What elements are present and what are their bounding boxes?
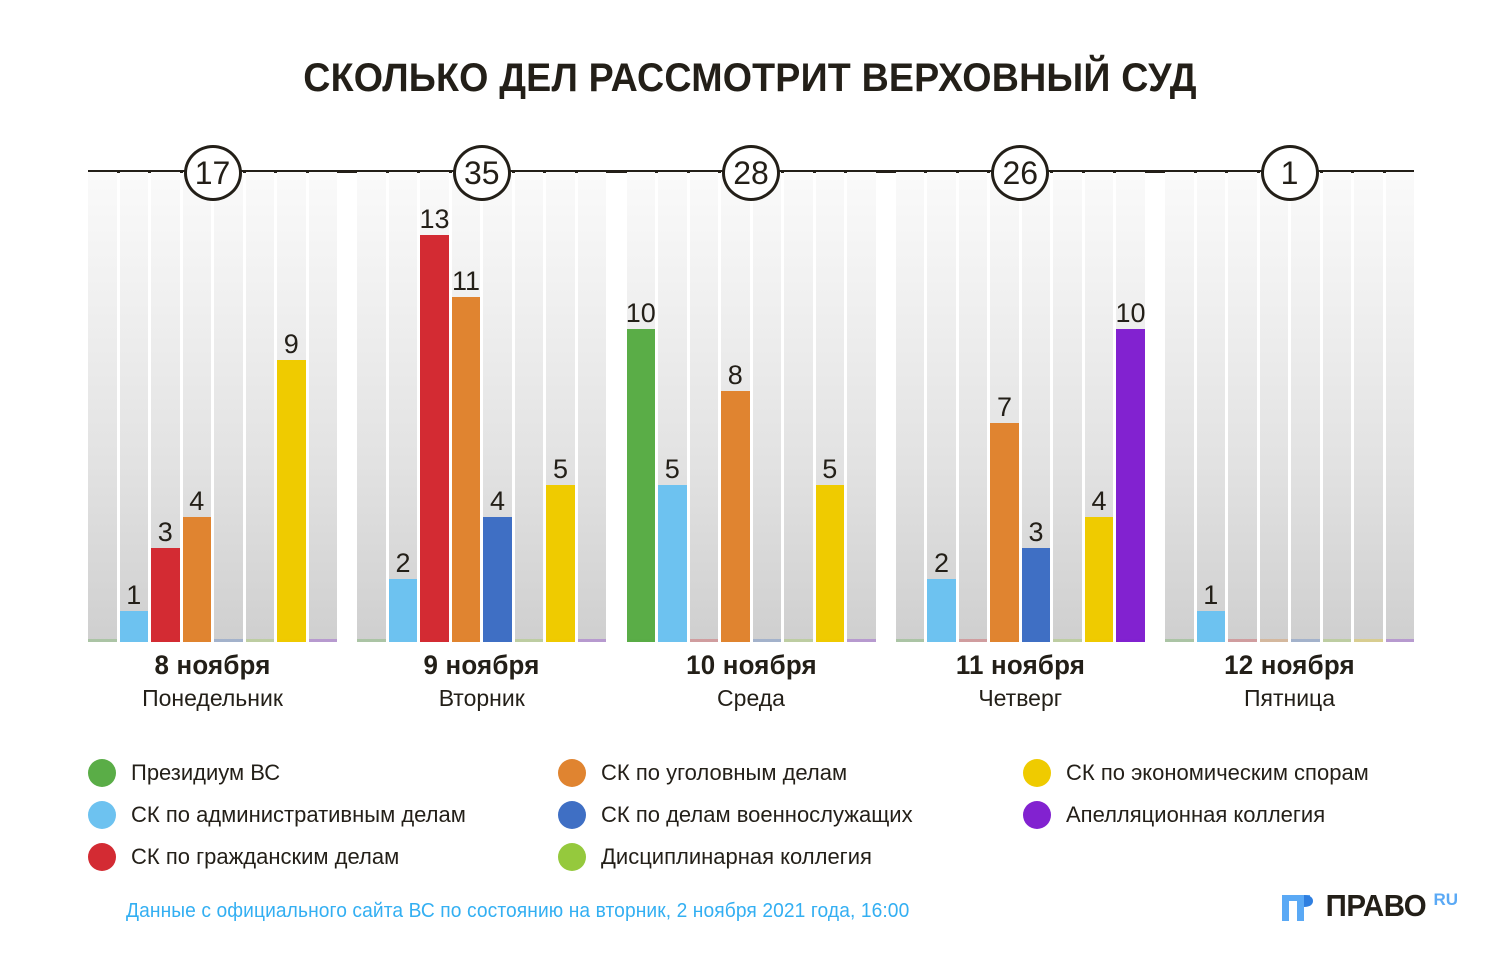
bar-value-label: 7 bbox=[997, 394, 1012, 421]
page-title: СКОЛЬКО ДЕЛ РАССМОТРИТ ВЕРХОВНЫЙ СУД bbox=[45, 56, 1455, 101]
bar-value-label: 5 bbox=[553, 456, 568, 483]
legend-label: Апелляционная коллегия bbox=[1066, 802, 1325, 828]
bar-value-label: 5 bbox=[822, 456, 837, 483]
bar[interactable]: 10 bbox=[627, 329, 656, 642]
date-label-main: 12 ноября bbox=[1170, 650, 1409, 681]
date-label-main: 8 ноября bbox=[93, 650, 332, 681]
date-label-cell: 9 ноябряВторник bbox=[357, 650, 606, 712]
bar-value-label: 4 bbox=[1091, 488, 1106, 515]
category-slot: 7 bbox=[990, 172, 1019, 642]
bar-value-label: 2 bbox=[395, 550, 410, 577]
bar[interactable]: 3 bbox=[1022, 548, 1051, 642]
bar-value-label: 3 bbox=[1028, 519, 1043, 546]
category-slot bbox=[784, 172, 813, 642]
day-group: 1058528 bbox=[627, 172, 876, 642]
category-slot: 4 bbox=[183, 172, 212, 642]
category-slot: 10 bbox=[627, 172, 656, 642]
legend-color-swatch bbox=[558, 801, 586, 829]
legend-item[interactable]: Апелляционная коллегия bbox=[1023, 801, 1458, 829]
legend-color-swatch bbox=[1023, 801, 1051, 829]
bar[interactable]: 13 bbox=[420, 235, 449, 642]
legend-label: СК по делам военнослужащих bbox=[601, 802, 913, 828]
legend-color-swatch bbox=[558, 843, 586, 871]
category-slot bbox=[309, 172, 338, 642]
chart-legend: Президиум ВССК по уголовным деламСК по э… bbox=[88, 752, 1458, 878]
legend-item[interactable]: Президиум ВС bbox=[88, 759, 558, 787]
bar[interactable]: 11 bbox=[452, 297, 481, 642]
category-slot bbox=[578, 172, 607, 642]
legend-color-swatch bbox=[88, 801, 116, 829]
date-label-weekday: Пятница bbox=[1165, 685, 1414, 712]
slot-track: 10585 bbox=[627, 172, 876, 642]
bar-value-label: 4 bbox=[189, 488, 204, 515]
bar-value-label: 10 bbox=[1115, 300, 1145, 327]
category-slot bbox=[1386, 172, 1415, 642]
bar[interactable]: 10 bbox=[1116, 329, 1145, 642]
date-label-weekday: Вторник bbox=[357, 685, 606, 712]
category-slot: 3 bbox=[1022, 172, 1051, 642]
category-slot bbox=[1323, 172, 1352, 642]
legend-color-swatch bbox=[88, 843, 116, 871]
category-slot bbox=[753, 172, 782, 642]
legend-item[interactable]: СК по гражданским делам bbox=[88, 843, 558, 871]
legend-label: Дисциплинарная коллегия bbox=[601, 844, 872, 870]
bar[interactable]: 4 bbox=[483, 517, 512, 642]
category-slot: 2 bbox=[389, 172, 418, 642]
logo-wordmark: ПРАВО bbox=[1325, 888, 1426, 924]
date-label-main: 10 ноября bbox=[631, 650, 870, 681]
date-label-weekday: Четверг bbox=[896, 685, 1145, 712]
slot-track: 1349 bbox=[88, 172, 337, 642]
category-slot bbox=[1260, 172, 1289, 642]
legend-color-swatch bbox=[88, 759, 116, 787]
category-slot: 1 bbox=[1197, 172, 1226, 642]
date-label-cell: 8 ноябряПонедельник bbox=[88, 650, 337, 712]
day-group: 11 bbox=[1165, 172, 1414, 642]
bar-value-label: 11 bbox=[452, 268, 480, 295]
slot-track: 2131145 bbox=[357, 172, 606, 642]
category-slot bbox=[214, 172, 243, 642]
source-note: Данные с официального сайта ВС по состоя… bbox=[126, 900, 909, 923]
category-slot bbox=[357, 172, 386, 642]
legend-color-swatch bbox=[1023, 759, 1051, 787]
category-slot: 2 bbox=[927, 172, 956, 642]
bar-value-label: 3 bbox=[158, 519, 173, 546]
category-slot bbox=[1354, 172, 1383, 642]
legend-color-swatch bbox=[558, 759, 586, 787]
legend-label: СК по административным делам bbox=[131, 802, 466, 828]
category-slot: 5 bbox=[816, 172, 845, 642]
bar-value-label: 2 bbox=[934, 550, 949, 577]
date-axis-labels: 8 ноябряПонедельник9 ноябряВторник10 ноя… bbox=[88, 650, 1414, 712]
bar[interactable]: 5 bbox=[816, 485, 845, 642]
bar[interactable]: 9 bbox=[277, 360, 306, 642]
bar-value-label: 8 bbox=[728, 362, 743, 389]
category-slot: 8 bbox=[721, 172, 750, 642]
legend-label: СК по гражданским делам bbox=[131, 844, 399, 870]
legend-item[interactable]: СК по уголовным делам bbox=[558, 759, 1023, 787]
bar[interactable]: 5 bbox=[658, 485, 687, 642]
date-label-cell: 10 ноябряСреда bbox=[627, 650, 876, 712]
bar-value-label: 1 bbox=[126, 582, 141, 609]
bar[interactable]: 8 bbox=[721, 391, 750, 642]
bar-value-label: 13 bbox=[419, 206, 449, 233]
bar[interactable]: 2 bbox=[389, 579, 418, 642]
date-label-main: 11 ноября bbox=[901, 650, 1140, 681]
category-slot bbox=[1165, 172, 1194, 642]
category-slot: 3 bbox=[151, 172, 180, 642]
category-slot bbox=[1228, 172, 1257, 642]
group-total-badge: 35 bbox=[453, 145, 511, 201]
legend-item[interactable]: СК по экономическим спорам bbox=[1023, 759, 1458, 787]
category-slot: 4 bbox=[483, 172, 512, 642]
pravo-logo-mark-icon bbox=[1280, 889, 1314, 923]
legend-item[interactable]: Дисциплинарная коллегия bbox=[558, 843, 1023, 871]
bar[interactable]: 1 bbox=[1197, 611, 1226, 642]
chart-groups: 13491721311453510585282734102611 bbox=[88, 172, 1414, 642]
group-total-badge: 1 bbox=[1261, 145, 1319, 201]
group-total-badge: 28 bbox=[722, 145, 780, 201]
day-group: 134917 bbox=[88, 172, 337, 642]
category-slot bbox=[847, 172, 876, 642]
bar[interactable]: 2 bbox=[927, 579, 956, 642]
bar[interactable]: 7 bbox=[990, 423, 1019, 642]
date-label-weekday: Среда bbox=[627, 685, 876, 712]
category-slot bbox=[246, 172, 275, 642]
category-slot: 9 bbox=[277, 172, 306, 642]
bar-value-label: 5 bbox=[665, 456, 680, 483]
legend-item[interactable]: СК по административным делам bbox=[88, 801, 558, 829]
legend-label: Президиум ВС bbox=[131, 760, 280, 786]
date-label-main: 9 ноября bbox=[362, 650, 601, 681]
date-label-cell: 12 ноябряПятница bbox=[1165, 650, 1414, 712]
slot-track: 273410 bbox=[896, 172, 1145, 642]
category-slot bbox=[690, 172, 719, 642]
date-label-cell: 11 ноябряЧетверг bbox=[896, 650, 1145, 712]
bar[interactable]: 5 bbox=[546, 485, 575, 642]
category-slot bbox=[515, 172, 544, 642]
bar[interactable]: 3 bbox=[151, 548, 180, 642]
category-slot bbox=[959, 172, 988, 642]
legend-label: СК по уголовным делам bbox=[601, 760, 847, 786]
category-slot: 11 bbox=[452, 172, 481, 642]
bar[interactable]: 1 bbox=[120, 611, 149, 642]
day-group: 213114535 bbox=[357, 172, 606, 642]
category-slot bbox=[896, 172, 925, 642]
bar-value-label: 1 bbox=[1203, 582, 1218, 609]
legend-item[interactable]: СК по делам военнослужащих bbox=[558, 801, 1023, 829]
bar-value-label: 4 bbox=[490, 488, 505, 515]
legend-label: СК по экономическим спорам bbox=[1066, 760, 1369, 786]
bar-value-label: 10 bbox=[626, 300, 656, 327]
pravo-ru-logo[interactable]: ПРАВО RU bbox=[1280, 888, 1458, 924]
category-slot: 10 bbox=[1116, 172, 1145, 642]
day-group: 27341026 bbox=[896, 172, 1145, 642]
category-slot: 1 bbox=[120, 172, 149, 642]
logo-suffix: RU bbox=[1433, 890, 1458, 910]
category-slot bbox=[1291, 172, 1320, 642]
group-total-badge: 17 bbox=[184, 145, 242, 201]
category-slot bbox=[88, 172, 117, 642]
category-slot: 4 bbox=[1085, 172, 1114, 642]
category-slot bbox=[1053, 172, 1082, 642]
category-slot: 5 bbox=[658, 172, 687, 642]
date-label-weekday: Понедельник bbox=[88, 685, 337, 712]
bar-value-label: 9 bbox=[284, 331, 299, 358]
category-slot: 5 bbox=[546, 172, 575, 642]
bar[interactable]: 4 bbox=[1085, 517, 1114, 642]
category-slot: 13 bbox=[420, 172, 449, 642]
group-total-badge: 26 bbox=[991, 145, 1049, 201]
bar[interactable]: 4 bbox=[183, 517, 212, 642]
slot-track: 1 bbox=[1165, 172, 1414, 642]
